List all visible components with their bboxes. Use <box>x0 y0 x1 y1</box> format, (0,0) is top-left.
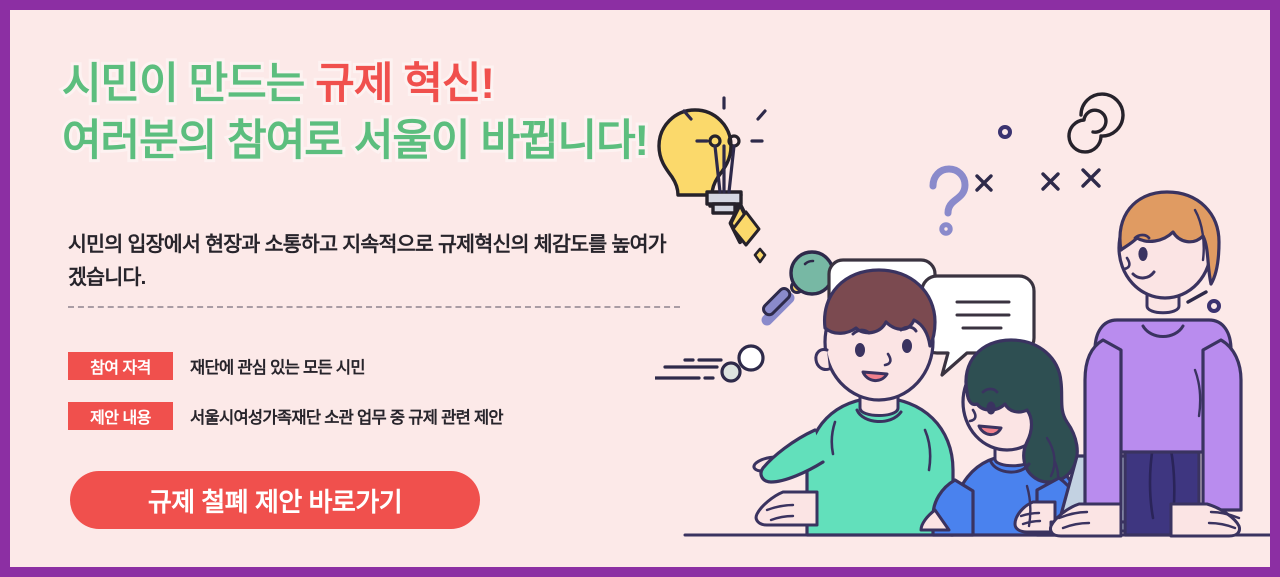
illustration <box>655 10 1280 567</box>
cta-button-proposal[interactable]: 규제 철폐 제안 바로가기 <box>70 471 480 529</box>
info-text-proposal: 서울시여성가족재단 소관 업무 중 규제 관련 제안 <box>190 404 503 428</box>
laptop-icon <box>1051 456 1193 531</box>
info-text-eligibility: 재단에 관심 있는 모든 시민 <box>190 354 365 378</box>
dashed-divider <box>68 306 680 308</box>
info-row-proposal: 제안 내용 서울시여성가족재단 소관 업무 중 규제 관련 제안 <box>68 402 503 430</box>
person-center <box>921 340 1085 535</box>
speech-bubble-icon <box>829 260 935 352</box>
headline-line-2: 여러분의 참여로 서울이 바뀝니다! <box>62 113 648 170</box>
info-row-eligibility: 참여 자격 재단에 관심 있는 모든 시민 <box>68 352 365 380</box>
speech-bubble-icon <box>922 276 1034 375</box>
spiral-icon <box>1069 94 1123 152</box>
magnifier-icon <box>761 252 833 320</box>
person-left <box>754 270 953 535</box>
badge-eligibility: 참여 자격 <box>68 352 173 380</box>
person-right <box>1050 192 1241 536</box>
small-circle-icon <box>1000 127 1219 311</box>
lightbulb-icon <box>659 10 1280 213</box>
dash-rays-icon <box>1153 267 1206 310</box>
headline-line-1-red: 규제 혁신! <box>315 60 494 108</box>
headline-line-1: 시민이 만드는 규제 혁신! <box>62 56 648 113</box>
page-title: 시민이 만드는 규제 혁신! 여러분의 참여로 서울이 바뀝니다! <box>62 56 648 170</box>
badge-proposal: 제안 내용 <box>68 402 173 430</box>
diamond-sparkle-icon <box>731 204 765 262</box>
hexagon-nut-icon <box>1167 240 1203 281</box>
question-mark-icon <box>933 169 965 233</box>
headline-line-1-green: 시민이 만드는 <box>62 60 315 108</box>
motion-lines-icon <box>655 346 763 381</box>
subtitle-text: 시민의 입장에서 현장과 소통하고 지속적으로 규제혁신의 체감도를 높여가겠습… <box>68 228 678 294</box>
sparkle-x-icon <box>977 170 1099 190</box>
promo-banner: 시민이 만드는 규제 혁신! 여러분의 참여로 서울이 바뀝니다! 시민의 입장… <box>0 0 1280 577</box>
